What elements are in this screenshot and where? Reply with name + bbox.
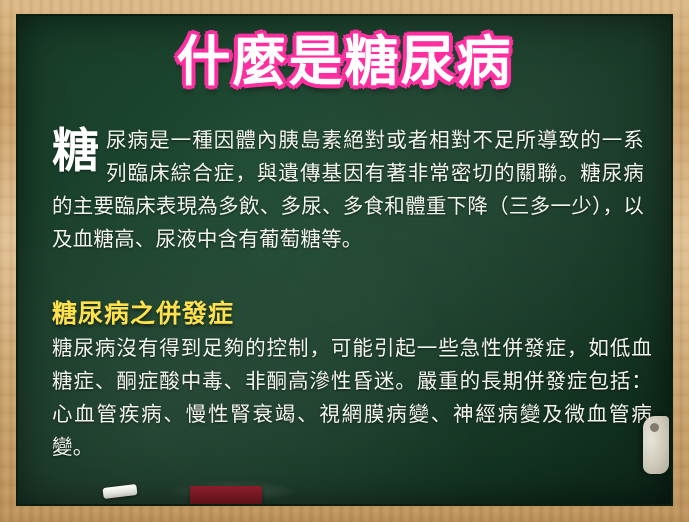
chalk-stick-icon [102,484,137,499]
section-heading-complications: 糖尿病之併發症 [52,294,234,330]
intro-paragraph-block: 糖 尿病是一種因體內胰島素絕對或者相對不足所導致的一系列臨床綜合症，與遺傳基因有… [52,124,644,256]
blackboard-wooden-frame: 什麼是糖尿病 糖 尿病是一種因體內胰島素絕對或者相對不足所導致的一系列臨床綜合症… [0,0,689,522]
page-title: 什麼是糖尿病 [18,34,671,91]
drop-cap: 糖 [52,126,99,178]
complications-paragraph-text: 糖尿病沒有得到足夠的控制，可能引起一些急性併發症，如低血糖症、酮症酸中毒、非酮高… [52,332,652,464]
chalkboard-surface: 什麼是糖尿病 糖 尿病是一種因體內胰島素絕對或者相對不足所導致的一系列臨床綜合症… [16,14,673,506]
blackboard-eraser-icon [190,486,262,504]
pale-object-dot-icon [650,423,659,432]
intro-paragraph-text: 尿病是一種因體內胰島素絕對或者相對不足所導致的一系列臨床綜合症，與遺傳基因有著非… [52,124,644,256]
